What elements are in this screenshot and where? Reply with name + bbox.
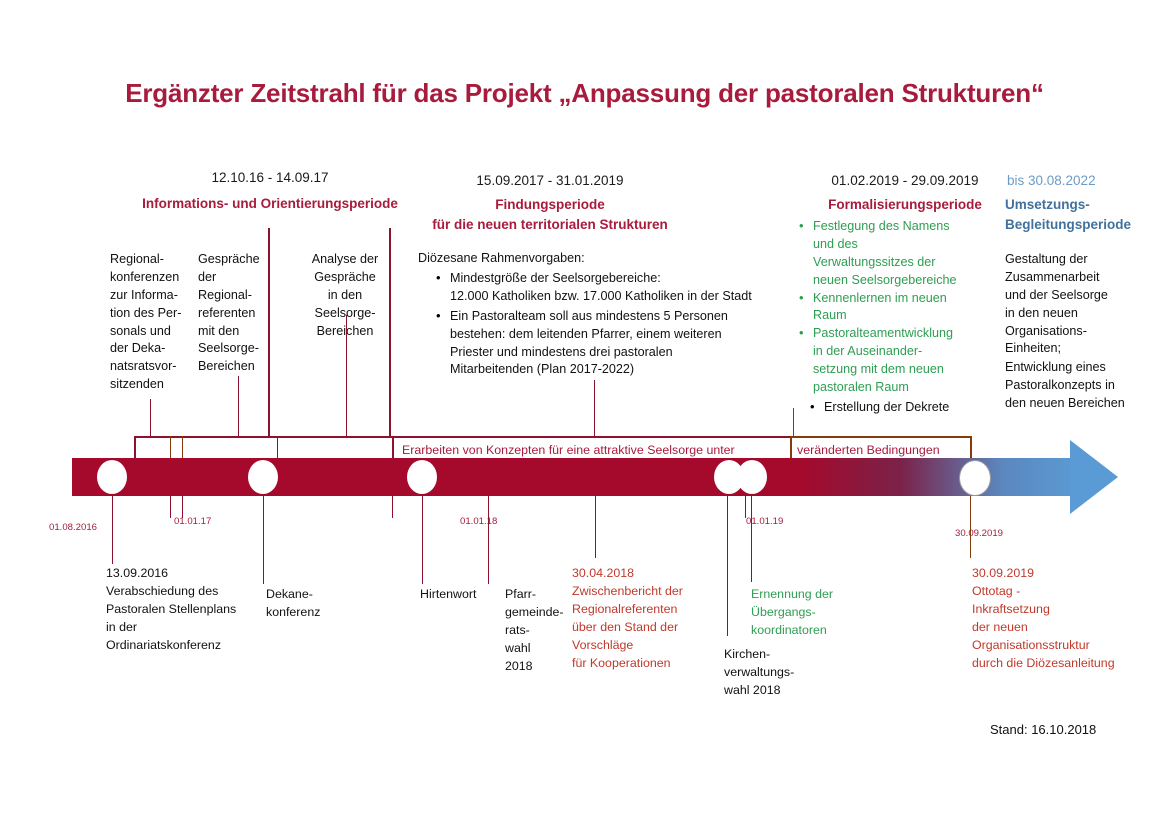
- tick-date-1: 01.08.2016: [49, 522, 97, 533]
- page-title: Ergänzter Zeitstrahl für das Projekt „An…: [0, 78, 1169, 109]
- callout-pfarrgemeinderatswahl: Pfarr- gemeinde- rats- wahl 2018: [505, 586, 571, 676]
- timeline-node-6[interactable]: [959, 460, 991, 496]
- period-2-bullet-list: Mindestgröße der Seelsorgebereiche: 12.0…: [434, 270, 794, 379]
- tick-line-01-01-17b: [182, 496, 183, 518]
- leader-line-zwischenbericht: [595, 496, 596, 558]
- connector-line-analyse: [346, 315, 347, 437]
- tick-line-01-01-19: [745, 496, 746, 518]
- period-3-date: 01.02.2019 - 29.09.2019: [790, 173, 1020, 188]
- period-4-text-black: Gestaltung der Zusammenarbeit und der Se…: [1005, 251, 1155, 358]
- period-1-title: Informations- und Orientierungsperiode: [110, 195, 430, 213]
- timeline-node-5[interactable]: [737, 460, 767, 494]
- timeline-node-3[interactable]: [407, 460, 437, 494]
- bracket-end-left: [134, 436, 136, 460]
- activity-regionalkonferenzen: Regional- konferenzen zur Informa- tion …: [110, 251, 192, 394]
- bracket-tick-b: [182, 436, 183, 460]
- leader-line-pfarrgemeinderatswahl: [488, 496, 489, 584]
- concept-band-left-text: Erarbeiten von Konzepten für eine attrak…: [402, 443, 735, 457]
- timeline-arrowhead-icon: [1070, 440, 1118, 514]
- period-1-date: 12.10.16 - 14.09.17: [140, 170, 400, 185]
- period-2-title-line2: für die neuen territorialen Strukturen: [400, 216, 700, 234]
- callout-ottotag: 30.09.2019 Ottotag - Inkraftsetzung der …: [972, 565, 1169, 673]
- tick-line-01-01-18: [392, 496, 393, 518]
- callout-ottotag-text: Ottotag - Inkraftsetzung der neuen Organ…: [972, 583, 1169, 673]
- connector-line-regionalkonferenzen: [150, 399, 151, 437]
- bracket-end-right: [970, 436, 972, 460]
- timeline-diagram: Ergänzter Zeitstrahl für das Projekt „An…: [0, 0, 1169, 827]
- bracket-horizontal-right: [792, 436, 972, 438]
- connector-line-period-3: [793, 408, 794, 437]
- timeline-node-1[interactable]: [97, 460, 127, 494]
- bracket-divider-concept-left: [392, 436, 394, 460]
- period-3-bullet-3: Pastoralteamentwicklung in der Auseinand…: [797, 325, 987, 397]
- callout-kirchenverwaltungswahl: Kirchen- verwaltungs- wahl 2018: [724, 646, 844, 700]
- period-2-title-line1: Findungsperiode: [420, 196, 680, 214]
- period-2-intro: Diözesane Rahmenvorgaben:: [418, 250, 585, 268]
- leader-line-ottotag: [970, 496, 971, 558]
- period-3-green-bullets: Festlegung des Namens und des Verwaltung…: [797, 218, 987, 397]
- period-2-bullet-1: Mindestgröße der Seelsorgebereiche: 12.0…: [434, 270, 794, 306]
- callout-hirtenwort: Hirtenwort: [420, 586, 500, 604]
- divider-period-1-2: [268, 228, 270, 437]
- tick-date-2: 01.01.17: [174, 516, 211, 527]
- period-3-bullet-2: Kennenlernen im neuen Raum: [797, 290, 987, 326]
- stand-label: Stand: 16.10.2018: [990, 722, 1096, 737]
- activity-analyse-gespraeche: Analyse der Gespräche in den Seelsorge- …: [300, 251, 390, 340]
- callout-verabschiedung: 13.09.2016 Verabschiedung des Pastoralen…: [106, 565, 286, 655]
- divider-period-2-start: [389, 228, 391, 437]
- period-4-title-line1: Umsetzungs-: [1005, 196, 1165, 214]
- period-2-bullet-2: Ein Pastoralteam soll aus mindestens 5 P…: [434, 308, 794, 380]
- concept-band-right-text: veränderten Bedingungen: [797, 443, 940, 457]
- callout-verabschiedung-date: 13.09.2016: [106, 565, 286, 583]
- bracket-horizontal-left: [134, 436, 794, 438]
- timeline-node-2[interactable]: [248, 460, 278, 494]
- callout-ernennung-uebergangskoordinatoren: Ernennung der Übergangs- koordinatoren: [751, 586, 901, 640]
- bracket-divider-concept-mid: [790, 436, 792, 460]
- leader-line-verabschiedung: [112, 496, 113, 564]
- period-4-text-green: Entwicklung eines Pastoralkonzepts in de…: [1005, 359, 1160, 413]
- callout-ottotag-date: 30.09.2019: [972, 565, 1169, 583]
- timeline-bar: [72, 458, 1082, 496]
- callout-zwischenbericht-date: 30.04.2018: [572, 565, 752, 583]
- leader-line-hirtenwort: [422, 496, 423, 584]
- callout-verabschiedung-text: Verabschiedung des Pastoralen Stellenpla…: [106, 583, 286, 655]
- connector-line-gespraeche: [238, 376, 239, 437]
- bracket-tick-a: [170, 436, 171, 460]
- period-4-date: bis 30.08.2022: [1007, 173, 1157, 188]
- bracket-tick-c: [277, 436, 278, 460]
- period-3-bullet-4: Erstellung der Dekrete: [808, 399, 1008, 417]
- period-3-black-bullets: Erstellung der Dekrete: [808, 399, 1008, 417]
- connector-line-period-2: [594, 380, 595, 437]
- period-4-title-line2: Begleitungsperiode: [1005, 216, 1169, 234]
- period-3-bullet-1: Festlegung des Namens und des Verwaltung…: [797, 218, 987, 290]
- period-3-title: Formalisierungsperiode: [790, 196, 1020, 214]
- tick-date-5: 30.09.2019: [955, 528, 1003, 539]
- tick-line-01-01-17: [170, 496, 171, 518]
- callout-dekanekonferenz: Dekane- konferenz: [266, 586, 356, 622]
- activity-gespraeche-regionalreferenten: Gespräche der Regional- referenten mit d…: [198, 251, 284, 376]
- tick-date-3: 01.01.18: [460, 516, 497, 527]
- period-2-date: 15.09.2017 - 31.01.2019: [420, 173, 680, 188]
